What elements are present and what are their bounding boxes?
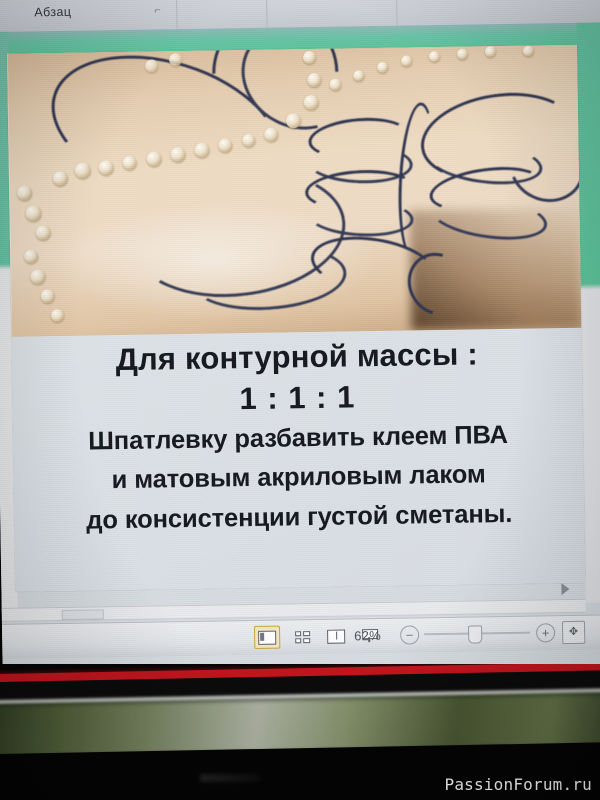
normal-view-button[interactable] xyxy=(254,626,280,649)
paragraph-dialog-launcher-icon[interactable]: ⌐ xyxy=(154,4,166,16)
slide-ratio: 1 : 1 : 1 xyxy=(12,375,582,420)
slide-canvas[interactable]: Для контурной массы : 1 : 1 : 1 Шпатлевк… xyxy=(7,45,585,592)
bezel-logo xyxy=(200,774,260,782)
reading-view-button[interactable] xyxy=(324,625,348,646)
watermark: PassionForum.ru xyxy=(445,775,593,794)
slide-body-line-1: Шпатлевку разбавить клеем ПВА xyxy=(13,417,583,460)
ribbon-separator xyxy=(176,0,178,29)
slide-text-block[interactable]: Для контурной массы : 1 : 1 : 1 Шпатлевк… xyxy=(12,335,585,539)
ribbon-separator xyxy=(266,0,268,28)
slide-photo[interactable] xyxy=(7,45,581,337)
reading-view-icon xyxy=(327,629,345,643)
ribbon-separator xyxy=(396,0,398,26)
normal-view-icon xyxy=(258,630,276,644)
slide-sorter-icon xyxy=(295,631,310,643)
ink-drawing-layer xyxy=(7,45,581,337)
zoom-out-button[interactable]: − xyxy=(400,625,419,644)
horizontal-scrollbar-thumb[interactable] xyxy=(62,609,104,620)
slide-title: Для контурной массы : xyxy=(12,335,583,381)
slide-sorter-view-button[interactable] xyxy=(290,626,314,647)
status-bar: 62% − + ✥ xyxy=(2,614,600,659)
ribbon-group-label-paragraph: Абзац xyxy=(34,5,71,20)
fit-slide-to-window-button[interactable]: ✥ xyxy=(562,621,585,644)
slide-body-line-2: и матовым акриловым лаком xyxy=(13,457,583,500)
photographed-laptop-screen: Абзац ⌐ xyxy=(0,0,600,800)
scroll-right-arrow-icon[interactable] xyxy=(561,583,569,595)
slide-body-line-3: до консистенции густой сметаны. xyxy=(14,497,584,540)
zoom-level-label[interactable]: 62% xyxy=(354,628,381,643)
zoom-in-button[interactable]: + xyxy=(536,623,555,642)
zoom-slider-handle[interactable] xyxy=(468,625,482,643)
monitor-screen: Абзац ⌐ xyxy=(0,0,600,682)
